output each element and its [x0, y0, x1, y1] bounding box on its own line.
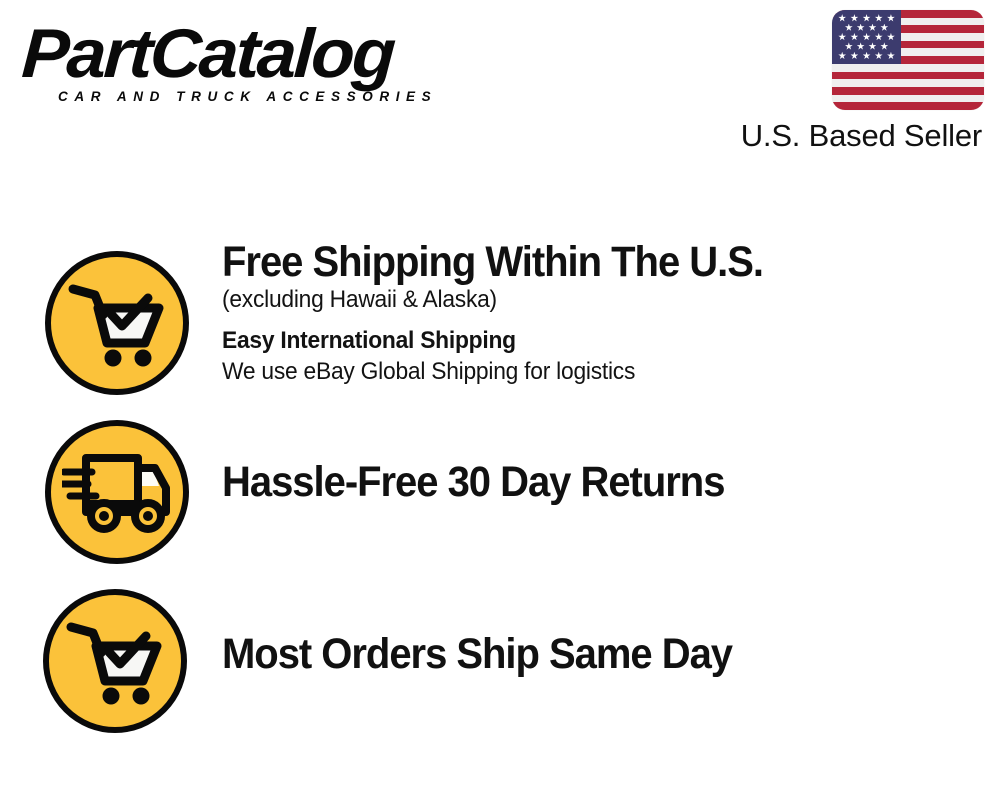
- feature-row: Most Orders Ship Same Day: [0, 584, 1000, 744]
- feature-text: Hassle-Free 30 Day Returns: [222, 412, 762, 505]
- us-flag-icon: [832, 10, 984, 110]
- delivery-truck-icon: [41, 416, 193, 568]
- banner-header: PartCatalog CAR AND TRUCK ACCESSORIES: [0, 0, 1000, 175]
- feature-subtitle-bold: Easy International Shipping: [222, 326, 775, 357]
- shipping-policy-banner: PartCatalog CAR AND TRUCK ACCESSORIES: [0, 0, 1000, 800]
- us-based-seller-label: U.S. Based Seller: [684, 119, 982, 153]
- shopping-cart-check-icon: [41, 247, 193, 399]
- feature-title: Hassle-Free 30 Day Returns: [222, 460, 724, 505]
- us-based-seller-badge: U.S. Based Seller: [684, 10, 984, 153]
- feature-subtitle: (excluding Hawaii & Alaska): [222, 285, 775, 316]
- feature-row: Hassle-Free 30 Day Returns: [0, 412, 1000, 584]
- brand-wordmark: PartCatalog: [20, 20, 510, 88]
- feature-text: Most Orders Ship Same Day: [222, 584, 770, 677]
- shopping-cart-check-icon: [39, 585, 191, 737]
- feature-subtitle-detail: We use eBay Global Shipping for logistic…: [222, 357, 775, 388]
- brand-logo: PartCatalog CAR AND TRUCK ACCESSORIES: [22, 20, 492, 104]
- feature-list: Free Shipping Within The U.S. (excluding…: [0, 240, 1000, 744]
- feature-title: Free Shipping Within The U.S.: [222, 240, 763, 285]
- feature-title: Most Orders Ship Same Day: [222, 632, 732, 677]
- flag-canton: [832, 10, 901, 64]
- feature-row: Free Shipping Within The U.S. (excluding…: [0, 240, 1000, 412]
- feature-text: Free Shipping Within The U.S. (excluding…: [222, 240, 804, 388]
